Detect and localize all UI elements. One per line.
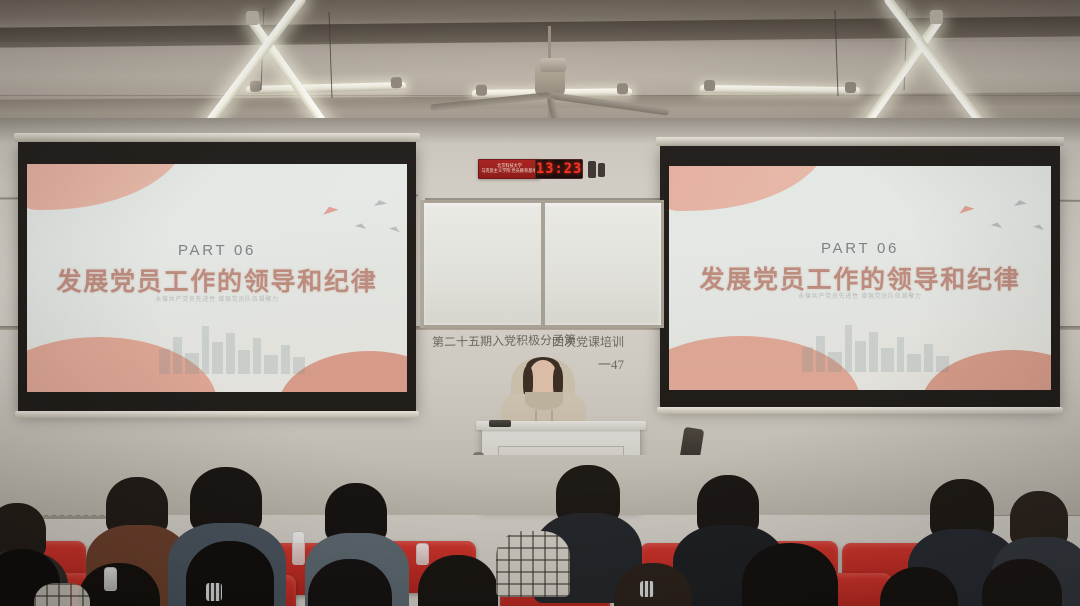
wall-notice-sign: 北京科技大学 马克思主义学院 党员教育基地 — [478, 159, 540, 179]
projector-mount — [540, 58, 566, 72]
slide-coral-blob — [669, 166, 829, 211]
slide-bird-icon — [958, 204, 975, 214]
slide-subtitle: 永葆共产党员先进性 增强党员队伍凝聚力 — [27, 294, 407, 303]
screen-roller — [14, 133, 420, 142]
screen-bottom-bar — [15, 411, 419, 418]
water-bottle[interactable] — [416, 543, 429, 565]
slide-bird-icon — [1033, 223, 1045, 230]
presenter-collar — [525, 392, 563, 410]
slide-bird-icon — [991, 221, 1004, 228]
whiteboard-divider — [541, 203, 545, 325]
sign-line-2: 马克思主义学院 党员教育基地 — [482, 169, 537, 174]
led-clock-display: 13:23 — [535, 159, 583, 179]
slide-bird-icon — [389, 224, 401, 231]
slide-part-label: PART 06 — [27, 242, 407, 259]
slide-bird-icon — [373, 199, 387, 206]
slide-city-silhouette — [799, 318, 952, 372]
slide-title: 发展党员工作的领导和纪律 — [27, 262, 407, 298]
hair-clip-accessory — [640, 581, 654, 597]
slide-city-silhouette — [156, 319, 308, 374]
plaid-shirt-person — [34, 583, 90, 606]
screen-bottom-bar — [657, 407, 1063, 414]
hair-clip-accessory — [206, 583, 222, 601]
light-endcap — [246, 11, 259, 25]
audience-area: ISA — [0, 455, 1080, 606]
whiteboard-text-line2: 四次党课培训 — [552, 333, 624, 350]
wall-sensor-box — [588, 161, 596, 178]
slide-content-right: PART 06 发展党员工作的领导和纪律 永葆共产党员先进性 增强党员队伍凝聚力 — [669, 166, 1051, 390]
water-bottle[interactable] — [292, 531, 305, 565]
classroom-photo: PART 06 发展党员工作的领导和纪律 永葆共产党员先进性 增强党员队伍凝聚力 — [0, 0, 1080, 606]
plaid-shirt-person — [496, 531, 570, 597]
projection-screen-left: PART 06 发展党员工作的领导和纪律 永葆共产党员先进性 增强党员队伍凝聚力 — [18, 142, 416, 412]
whiteboard — [420, 200, 664, 328]
podium-microphone[interactable] — [489, 420, 511, 427]
wall-sensor-box — [598, 163, 605, 177]
whiteboard-text-line3: 一47 — [598, 354, 624, 373]
screen-roller — [656, 137, 1064, 146]
clock-time: 13:23 — [536, 161, 582, 177]
slide-bird-icon — [1013, 199, 1027, 206]
slide-content-left: PART 06 发展党员工作的领导和纪律 永葆共产党员先进性 增强党员队伍凝聚力 — [27, 164, 407, 392]
slide-part-label: PART 06 — [669, 240, 1051, 257]
projection-screen-right: PART 06 发展党员工作的领导和纪律 永葆共产党员先进性 增强党员队伍凝聚力 — [660, 146, 1060, 408]
slide-subtitle: 永葆共产党员先进性 增强党员队伍凝聚力 — [669, 291, 1051, 300]
water-bottle[interactable] — [104, 567, 117, 591]
slide-bird-icon — [355, 222, 368, 229]
slide-coral-blob — [27, 164, 187, 210]
whiteboard-edge — [420, 200, 424, 328]
light-endcap — [930, 10, 943, 24]
slide-bird-icon — [322, 205, 339, 215]
